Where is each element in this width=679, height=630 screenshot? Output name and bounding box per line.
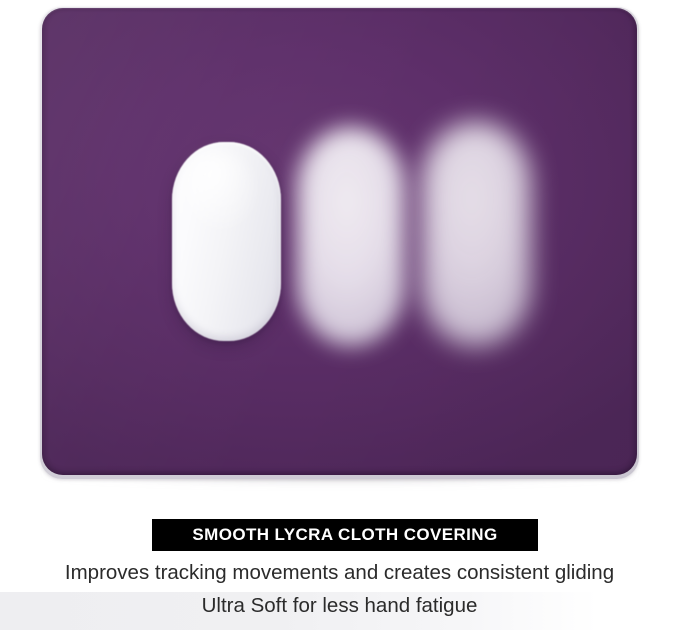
feature-badge: SMOOTH LYCRA CLOTH COVERING — [152, 519, 538, 551]
caption-line-2: Ultra Soft for less hand fatigue — [0, 594, 679, 618]
fabric-sheen-overlay — [42, 8, 637, 475]
product-feature-image: SMOOTH LYCRA CLOTH COVERING Improves tra… — [0, 0, 679, 630]
product-photo — [0, 0, 679, 500]
caption-line-1: Improves tracking movements and creates … — [0, 561, 679, 585]
mouse-pad-surface — [42, 8, 637, 475]
